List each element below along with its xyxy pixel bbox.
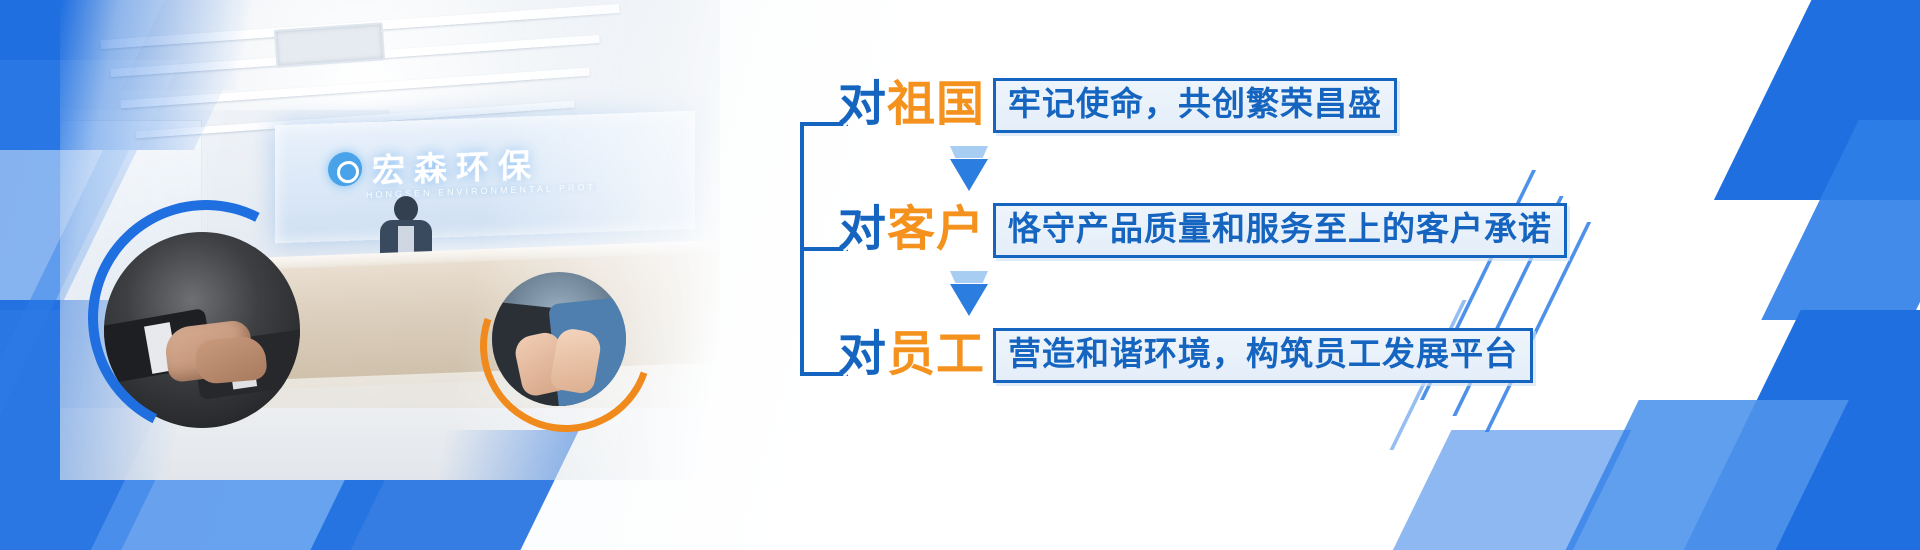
- slogan-row-2: 对客户 恪守产品质量和服务至上的客户承诺: [838, 203, 1567, 258]
- arrow-triangle: [950, 284, 988, 316]
- slogan-lead-highlight-3: 员工: [887, 328, 985, 381]
- slogan-tag-text-3: 营造和谐环境，构筑员工发展平台: [1008, 335, 1518, 372]
- slogan-tag-3: 营造和谐环境，构筑员工发展平台: [993, 328, 1533, 383]
- slogan-tag-text-1: 牢记使命，共创繁荣昌盛: [1008, 85, 1382, 122]
- slogan-row-3: 对员工 营造和谐环境，构筑员工发展平台: [838, 328, 1533, 383]
- slogan-lead-1: 对祖国: [838, 81, 985, 129]
- globe-circle-icon: [328, 152, 362, 187]
- handshake-circle-photo: [104, 232, 300, 428]
- triangle-down-icon: [948, 271, 990, 317]
- ceiling-vent: [274, 22, 385, 68]
- slogan-row-1: 对祖国 牢记使命，共创繁荣昌盛: [838, 78, 1397, 133]
- slogan-lead-2: 对客户: [838, 206, 985, 254]
- slogan-lead-highlight-1: 祖国: [887, 78, 985, 131]
- promo-banner: 宏森环保 HONGSEN ENVIRONMENTAL PROTECTION: [0, 0, 1920, 550]
- office-floor: [60, 408, 720, 480]
- slogan-lead-highlight-2: 客户: [887, 203, 985, 256]
- slogan-lead-3: 对员工: [838, 331, 985, 379]
- arrow-top-bar: [950, 271, 988, 283]
- slogan-lead-prefix-2: 对: [838, 203, 887, 256]
- handshake-hand-right: [194, 335, 268, 385]
- slogan-tag-text-2: 恪守产品质量和服务至上的客户承诺: [1008, 210, 1552, 247]
- slogan-lead-prefix-1: 对: [838, 78, 887, 131]
- slogan-tag-1: 牢记使命，共创繁荣昌盛: [993, 78, 1397, 133]
- arrow-triangle: [950, 159, 988, 191]
- side-wall-panel: [60, 120, 202, 242]
- slogan-tag-2: 恪守产品质量和服务至上的客户承诺: [993, 203, 1567, 258]
- slogan-lead-prefix-3: 对: [838, 328, 887, 381]
- triangle-down-icon: [948, 146, 990, 192]
- slogan-block: 对祖国 牢记使命，共创繁荣昌盛 对客户 恪守产品质量和服务至上的客户承诺 对员工: [800, 78, 1660, 398]
- figure-head: [394, 196, 418, 222]
- arrow-top-bar: [950, 146, 988, 158]
- applause-circle-photo: [492, 272, 626, 406]
